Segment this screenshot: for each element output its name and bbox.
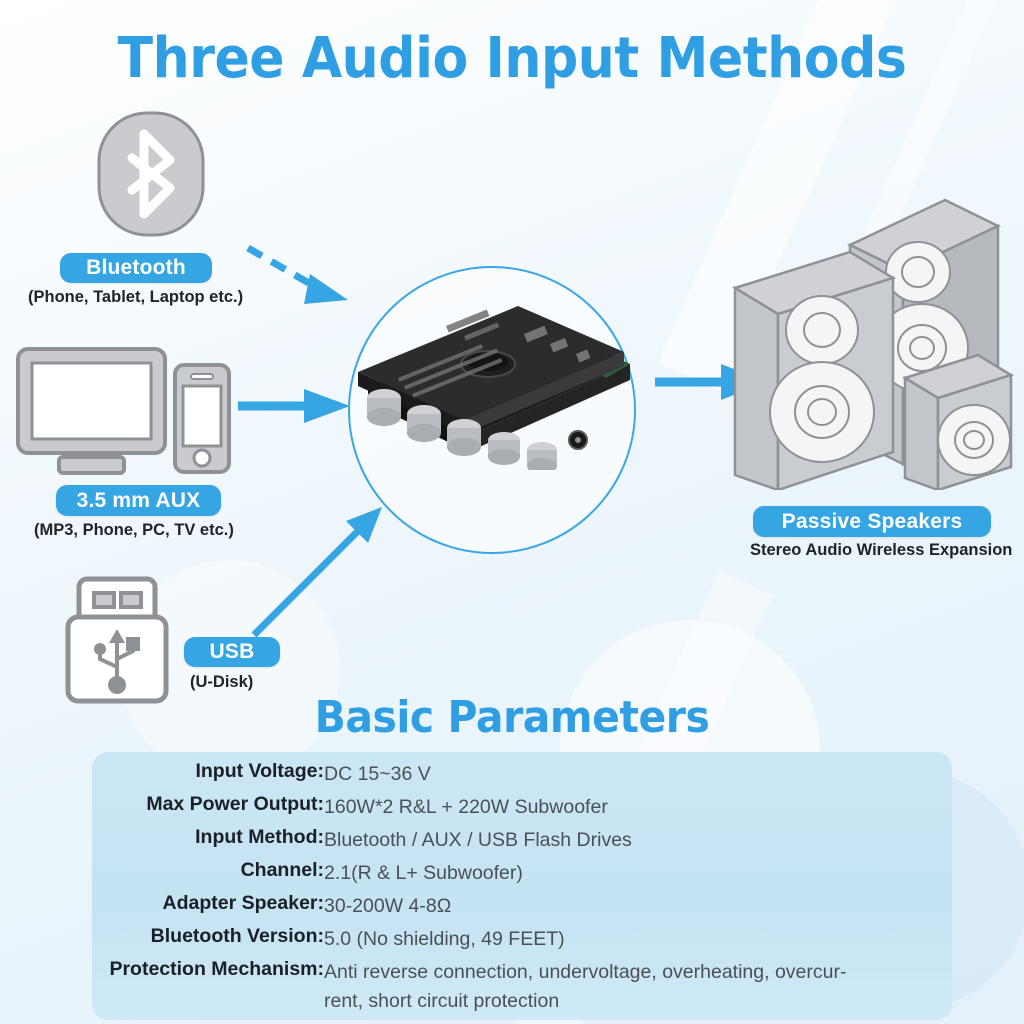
caption-aux: (MP3, Phone, PC, TV etc.) — [34, 521, 234, 540]
usb-flash-drive-icon — [62, 575, 172, 710]
parameter-value: DC 15~36 V — [324, 758, 952, 791]
label-pill-aux: 3.5 mm AUX — [56, 485, 221, 516]
parameter-value: Bluetooth / AUX / USB Flash Drives — [324, 824, 952, 857]
parameter-label: Input Method: — [92, 824, 324, 857]
bluetooth-icon — [96, 110, 206, 243]
pill-text: Bluetooth — [86, 256, 186, 280]
monitor-icon — [14, 345, 169, 480]
parameter-row: Input Voltage:DC 15~36 V — [92, 758, 952, 791]
label-pill-usb: USB — [184, 637, 280, 667]
infographic-page: Three Audio Input Methods Bluetooth (Pho… — [0, 0, 1024, 1024]
parameter-label: Protection Mechanism: — [92, 956, 324, 1018]
diagonal-arrow-icon — [250, 495, 400, 640]
parameter-label: Max Power Output: — [92, 791, 324, 824]
pill-text: USB — [210, 640, 255, 664]
parameter-row: Bluetooth Version:5.0 (No shielding, 49 … — [92, 923, 952, 956]
caption-passive-speakers: Stereo Audio Wireless Expansion — [750, 541, 1012, 560]
parameters-table-body: Input Voltage:DC 15~36 VMax Power Output… — [92, 758, 952, 1018]
smartphone-icon — [172, 362, 232, 480]
passive-speakers-icon — [730, 190, 1015, 495]
parameters-table: Input Voltage:DC 15~36 VMax Power Output… — [92, 758, 952, 1018]
label-pill-bluetooth: Bluetooth — [60, 253, 212, 283]
parameter-label: Channel: — [92, 857, 324, 890]
parameter-value: 30-200W 4-8Ω — [324, 890, 952, 923]
parameter-label: Input Voltage: — [92, 758, 324, 791]
amplifier-board-image — [338, 290, 638, 475]
parameter-label: Bluetooth Version: — [92, 923, 324, 956]
parameter-value: Anti reverse connection, undervoltage, o… — [324, 956, 952, 1018]
parameter-row: Protection Mechanism:Anti reverse connec… — [92, 956, 952, 1018]
label-pill-passive-speakers: Passive Speakers — [753, 506, 991, 537]
parameter-row: Adapter Speaker:30-200W 4-8Ω — [92, 890, 952, 923]
parameter-row: Max Power Output:160W*2 R&L + 220W Subwo… — [92, 791, 952, 824]
parameter-label: Adapter Speaker: — [92, 890, 324, 923]
page-title: Three Audio Input Methods — [36, 26, 988, 91]
parameter-value: 2.1(R & L+ Subwoofer) — [324, 857, 952, 890]
caption-usb: (U-Disk) — [190, 673, 253, 692]
parameter-value: 5.0 (No shielding, 49 FEET) — [324, 923, 952, 956]
caption-bluetooth: (Phone, Tablet, Laptop etc.) — [28, 288, 243, 307]
parameter-row: Channel:2.1(R & L+ Subwoofer) — [92, 857, 952, 890]
parameter-value: 160W*2 R&L + 220W Subwoofer — [324, 791, 952, 824]
pill-text: Passive Speakers — [782, 510, 963, 534]
parameter-row: Input Method:Bluetooth / AUX / USB Flash… — [92, 824, 952, 857]
pill-text: 3.5 mm AUX — [77, 489, 201, 513]
parameters-title: Basic Parameters — [36, 692, 988, 743]
